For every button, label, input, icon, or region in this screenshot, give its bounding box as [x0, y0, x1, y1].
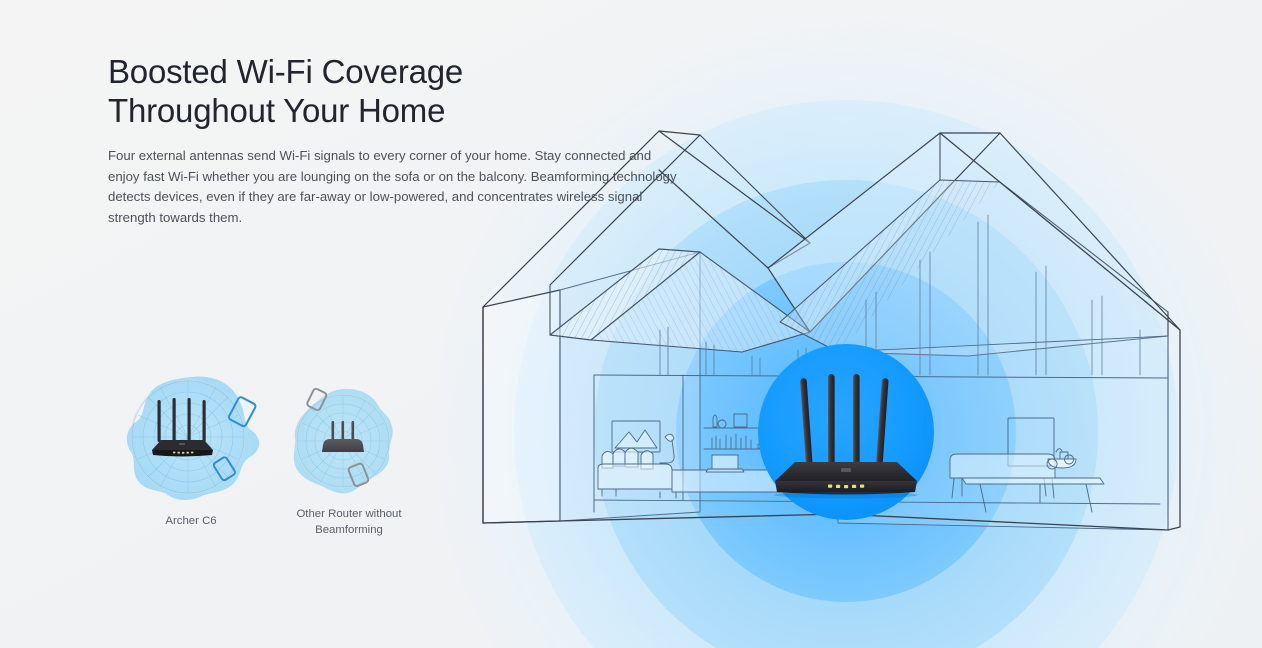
page-title: Boosted Wi-Fi Coverage Throughout Your H… — [108, 52, 698, 130]
beamforming-comparison: Archer C6 — [108, 368, 428, 548]
comparison-caption: Archer C6 — [116, 514, 266, 530]
hero-copy: Boosted Wi-Fi Coverage Throughout Your H… — [108, 52, 698, 228]
archer-c6-coverage-icon — [116, 368, 266, 508]
generic-router-coverage-icon — [284, 381, 402, 505]
comparison-item-other-router: Other Router without Beamforming — [284, 368, 414, 538]
comparison-item-archer-c6: Archer C6 — [116, 368, 266, 530]
hero-banner: Boosted Wi-Fi Coverage Throughout Your H… — [0, 0, 1262, 648]
comparison-caption: Other Router without Beamforming — [284, 507, 414, 538]
hero-description: Four external antennas send Wi-Fi signal… — [108, 146, 686, 228]
laptop-icon — [706, 455, 744, 472]
